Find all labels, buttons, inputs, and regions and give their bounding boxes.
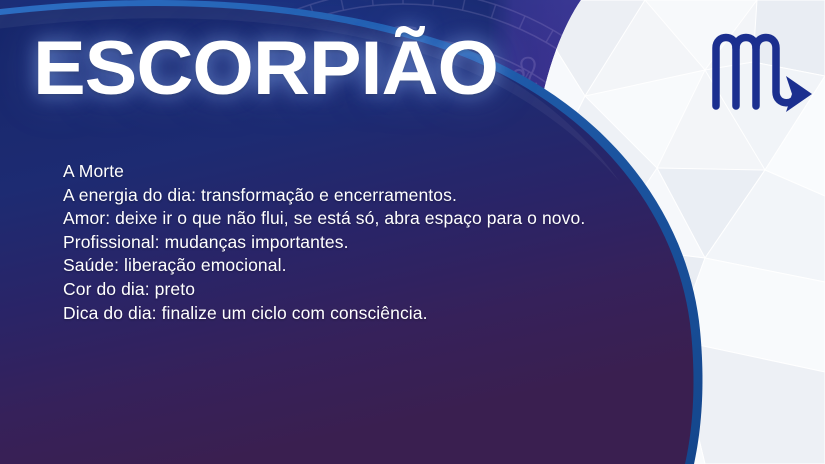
horoscope-line: A Morte [63,160,703,184]
horoscope-line: Saúde: liberação emocional. [63,254,703,278]
scorpio-glyph-icon [700,14,820,122]
horoscope-card: ♋ ♌ ♍ ♎ ♏ ♐ ♑ ♒ ♓ ♈ ♉ ♊ [0,0,825,464]
horoscope-line: Cor do dia: preto [63,278,703,302]
horoscope-line: Profissional: mudanças importantes. [63,231,703,255]
horoscope-text-block: A Morte A energia do dia: transformação … [63,160,703,325]
horoscope-line: Dica do dia: finalize um ciclo com consc… [63,302,703,326]
horoscope-line: A energia do dia: transformação e encerr… [63,184,703,208]
page-title: ESCORPIÃO [33,30,498,108]
horoscope-line: Amor: deixe ir o que não flui, se está s… [63,207,703,231]
